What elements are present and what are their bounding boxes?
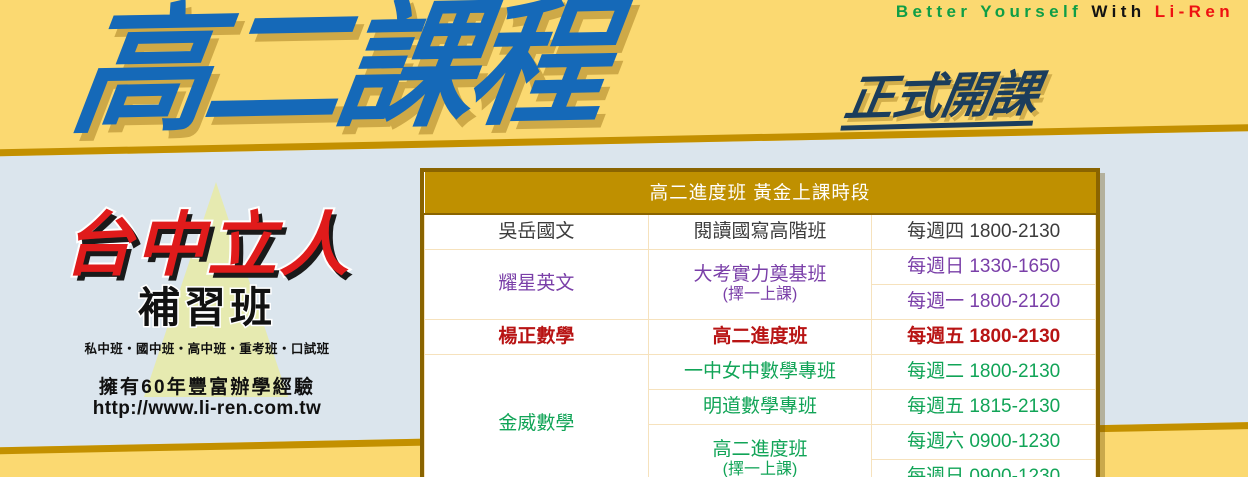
cell-course-note: (擇一上課) [651,461,870,477]
logo-class-categories: 私中班・國中班・高中班・重考班・口試班 [12,338,402,357]
table-row: 金威數學一中女中數學專班每週二 1800-2130 [425,355,1096,390]
cell-teacher: 楊正數學 [425,320,649,355]
time-slot-text: 每週日 1330-1650 [907,256,1060,278]
cell-course: 高二進度班(擇一上課) [648,425,872,477]
cell-time: 每週六 0900-1230 [872,425,1096,460]
time-slot-text: 每週五 1800-2130 [907,326,1060,348]
cell-course: 大考實力奠基班(擇一上課) [648,250,872,320]
tagline-word-with: With [1091,2,1145,21]
time-slot-text: 每週一 1800-2120 [907,291,1060,313]
cell-course: 閱讀國寫高階班 [648,214,872,250]
cell-time: 每週四 1800-2130 [872,214,1096,250]
logo-name: 台中立人 [12,210,402,280]
time-slot-text: 每週四 1800-2130 [907,221,1060,243]
page-subtitle: 正式開課 [840,69,1041,130]
page-title: 高二課程 [64,0,611,141]
brand-tagline: Better Yourself With Li-Ren [896,2,1234,22]
logo-experience-text: 擁有60年豐富辦學經驗 [12,372,402,399]
cell-teacher: 吳岳國文 [425,214,649,250]
cell-teacher: 耀星英文 [425,250,649,320]
time-slot-text: 每週六 0900-1230 [907,431,1060,453]
cell-course: 高二進度班 [648,320,872,355]
schedule-table: 高二進度班 黃金上課時段 吳岳國文閱讀國寫高階班每週四 1800-2130耀星英… [424,172,1096,477]
cell-time: 每週五 1800-2130 [872,320,1096,355]
table-row: 耀星英文大考實力奠基班(擇一上課)每週日 1330-1650 [425,250,1096,285]
schedule-table-title: 高二進度班 黃金上課時段 [425,172,1096,214]
cell-time: 每週二 1800-2130 [872,355,1096,390]
poster-canvas: Better Yourself With Li-Ren 高二課程 正式開課 台中… [0,0,1248,477]
time-slot-text: 每週五 1815-2130 [907,396,1060,418]
tagline-word-better: Better [896,2,972,21]
time-slot-text: 每週日 0900-1230 [907,466,1060,477]
cell-teacher: 金威數學 [425,355,649,477]
cell-course-note: (擇一上課) [651,286,870,305]
cell-course: 一中女中數學專班 [648,355,872,390]
table-header-row: 高二進度班 黃金上課時段 [425,172,1096,214]
tagline-word-yourself: Yourself [980,2,1082,21]
schedule-table-body: 吳岳國文閱讀國寫高階班每週四 1800-2130耀星英文大考實力奠基班(擇一上課… [425,214,1096,477]
cell-time: 每週一 1800-2120 [872,285,1096,320]
logo-website-url[interactable]: http://www.li-ren.com.tw [12,398,402,420]
schedule-card: 高二進度班 黃金上課時段 吳岳國文閱讀國寫高階班每週四 1800-2130耀星英… [420,168,1100,477]
cell-time: 每週五 1815-2130 [872,390,1096,425]
logo-subname: 補習班 [12,287,402,329]
tagline-word-liren: Li-Ren [1155,2,1234,21]
table-row: 楊正數學高二進度班每週五 1800-2130 [425,320,1096,355]
table-row: 吳岳國文閱讀國寫高階班每週四 1800-2130 [425,214,1096,250]
school-logo: 台中立人 補習班 私中班・國中班・高中班・重考班・口試班 擁有60年豐富辦學經驗… [12,182,402,432]
cell-course: 明道數學專班 [648,390,872,425]
cell-time: 每週日 0900-1230 [872,460,1096,477]
time-slot-text: 每週二 1800-2130 [907,361,1060,383]
cell-time: 每週日 1330-1650 [872,250,1096,285]
